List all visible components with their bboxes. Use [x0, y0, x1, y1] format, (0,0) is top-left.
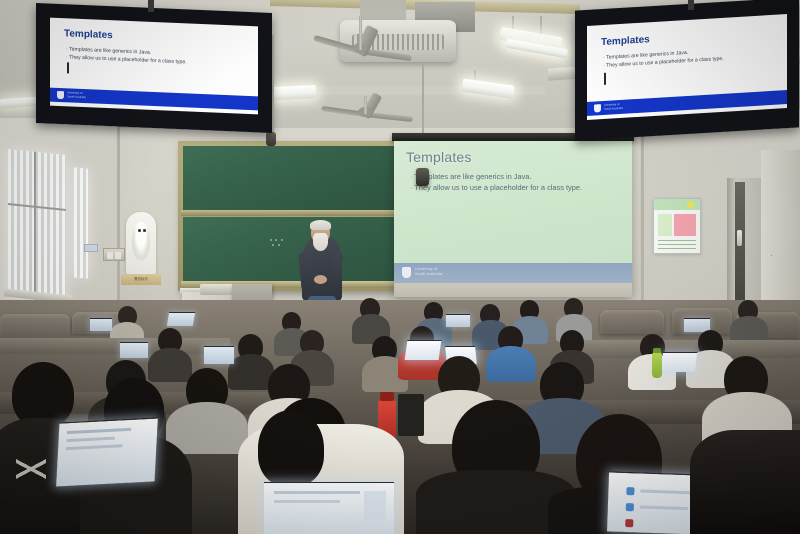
- hanging-fixture: [416, 168, 429, 186]
- window-blinds: [74, 167, 88, 278]
- display-monitor-left: Templates Templates are like generics in…: [36, 3, 272, 133]
- water-bottle-green: [652, 352, 662, 378]
- laptop-screen-icon: [626, 503, 634, 511]
- student-laptop: [446, 314, 470, 327]
- laptop-screen-line: [640, 505, 688, 510]
- hanging-rod: [272, 35, 274, 140]
- seat-row: [600, 310, 664, 334]
- monitor-slide-title: Templates: [64, 28, 113, 41]
- monitor-bullet-list: Templates are like generics in Java. The…: [603, 48, 724, 71]
- chalk-writing: [268, 237, 304, 251]
- university-shield-icon: [57, 91, 64, 99]
- laptop-screen-line: [274, 491, 360, 494]
- owl-illustration: [132, 222, 150, 260]
- notice-header: [654, 199, 700, 210]
- footer-line-2: South Australia: [67, 95, 86, 100]
- slide-bullet: They allow us to use a placeholder for a…: [410, 182, 622, 193]
- bottle-cap: [653, 348, 661, 353]
- slide-cursor: [67, 62, 69, 73]
- slide-bullet-list: Templates are like generics in Java. The…: [410, 171, 622, 194]
- student-body: [166, 402, 248, 454]
- notice-board: [653, 198, 701, 254]
- slide-cursor: [604, 73, 606, 85]
- slide-title: Templates: [406, 149, 472, 165]
- window: [8, 149, 66, 303]
- slide-footer-text: University of South Australia: [415, 267, 442, 278]
- owl-eye: [138, 229, 141, 232]
- student-body-blue-shirt: [486, 346, 536, 382]
- window: [74, 167, 88, 278]
- foreground-laptop[interactable]: [56, 417, 158, 486]
- laptop-screen-line: [274, 500, 340, 503]
- pillar-marking: ·: [770, 250, 773, 260]
- desk-row: [0, 338, 230, 354]
- monitor-slide-title: Templates: [601, 34, 650, 48]
- window-blinds: [8, 149, 66, 303]
- wall-corner: [117, 120, 120, 320]
- student-laptop: [90, 318, 112, 331]
- notice-panel: [658, 214, 672, 236]
- door-handle[interactable]: [737, 230, 742, 246]
- lecture-hall-photo: 警告标识 · Templates Templates are like gene…: [0, 0, 800, 534]
- fluorescent-light: [272, 85, 317, 100]
- footer-line-2: South Australia: [604, 107, 623, 112]
- wall-outlet: [103, 248, 125, 261]
- monitor-footer-text: University of South Australia: [604, 103, 623, 112]
- monitor-screen-right: Templates Templates are like generics in…: [587, 14, 787, 120]
- chalkboard-upper-panel: [183, 146, 397, 210]
- student-laptop: [120, 342, 148, 358]
- ceiling-duct: [360, 0, 406, 22]
- fan-rod: [364, 96, 367, 114]
- owl-eye: [143, 229, 146, 232]
- student-laptop: [405, 340, 442, 360]
- fan-rod: [359, 16, 362, 50]
- slide-bullet: Templates are like generics in Java.: [410, 171, 622, 182]
- monitor-slide-footer: University of South Australia: [50, 88, 258, 111]
- laptop-screen-panel: [364, 491, 386, 521]
- owl-poster: [126, 212, 156, 274]
- lecturer-beard: [313, 233, 328, 251]
- hanging-fixture: [266, 132, 276, 146]
- lecturer-hand: [314, 275, 327, 284]
- footer-line-2: South Australia: [415, 272, 442, 277]
- screen-blank-area: [394, 283, 632, 297]
- laptop-screen-line: [66, 444, 122, 450]
- student-laptop: [661, 352, 697, 372]
- chalkboard-divider: [181, 210, 399, 216]
- student-body: [148, 348, 192, 382]
- monitor-mount-arm: [148, 0, 154, 12]
- foreground-student-body: [690, 430, 800, 534]
- monitor-footer-text: University of South Australia: [67, 91, 86, 100]
- university-shield-icon: [594, 104, 601, 112]
- student-laptop: [167, 312, 195, 326]
- monitor-mount-arm: [688, 0, 694, 10]
- slide-content-area: Templates Templates are like generics in…: [394, 141, 632, 263]
- monitor-screen-left: Templates Templates are like generics in…: [50, 18, 258, 115]
- monitor-bullet-list: Templates are like generics in Java. The…: [66, 46, 187, 67]
- laptop-screen-icon: [626, 487, 634, 495]
- laptop-screen-line: [67, 428, 131, 434]
- university-shield-icon: [402, 267, 411, 278]
- laptop-screen-line: [66, 437, 114, 443]
- wall-sign: 警告标识: [121, 274, 161, 285]
- window-mullion: [34, 152, 36, 300]
- laptop-screen-icon: [625, 519, 633, 527]
- foreground-student-head: [258, 410, 324, 486]
- wall-label: [84, 244, 98, 252]
- bottle-cap: [380, 392, 394, 401]
- chalkboard: [178, 141, 402, 291]
- notice-text-lines: [658, 240, 696, 252]
- shirt-graphic: [16, 452, 46, 486]
- wall-corner: [641, 118, 644, 328]
- display-monitor-right: Templates Templates are like generics in…: [575, 0, 799, 141]
- foreground-laptop[interactable]: [264, 482, 394, 534]
- slide-footer: University of South Australia: [394, 263, 632, 283]
- seat-row: [0, 314, 70, 338]
- lecturer-hair: [310, 220, 331, 230]
- student-laptop: [204, 346, 234, 364]
- notice-panel: [674, 214, 696, 236]
- desk-device: [398, 394, 424, 436]
- projection-screen: Templates Templates are like generics in…: [394, 141, 632, 297]
